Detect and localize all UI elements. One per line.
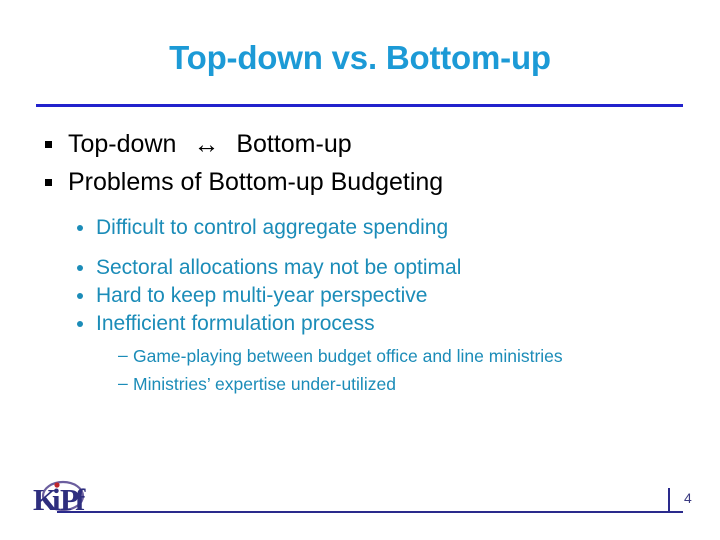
list-level3: – Game-playing between budget office and…: [0, 345, 720, 395]
list-item-level3: – Ministries’ expertise under-utilized: [0, 373, 720, 395]
slide: Top-down vs. Bottom-up Top-down ↔ Bottom…: [0, 0, 720, 540]
list-item-level3: – Game-playing between budget office and…: [0, 345, 720, 367]
square-bullet-icon: [45, 179, 52, 186]
square-bullet-icon: [45, 141, 52, 148]
list-item-level2: Sectoral allocations may not be optimal: [0, 254, 720, 282]
list-item-level1: Problems of Bottom-up Budgeting: [0, 166, 720, 198]
round-bullet-icon: [77, 265, 83, 271]
footer-divider: [57, 511, 683, 513]
list-item-label: Top-down: [68, 130, 176, 158]
page-title: Top-down vs. Bottom-up: [36, 38, 684, 78]
double-arrow-icon: ↔: [183, 131, 229, 157]
slide-body: Top-down ↔ Bottom-up Problems of Bottom-…: [0, 128, 720, 395]
round-bullet-icon: [77, 321, 83, 327]
list-item-level1: Top-down ↔ Bottom-up: [0, 128, 720, 160]
list-item-level2: Difficult to control aggregate spending: [0, 214, 720, 242]
list-item-label: Inefficient formulation process: [96, 312, 375, 335]
footer-tick-mark: [668, 488, 670, 512]
dash-bullet-icon: –: [118, 372, 128, 394]
list-item-level2: Inefficient formulation process: [0, 310, 720, 338]
dash-bullet-icon: –: [118, 344, 128, 366]
round-bullet-icon: [77, 225, 83, 231]
list-item-label: Game-playing between budget office and l…: [133, 346, 563, 366]
round-bullet-icon: [77, 293, 83, 299]
page-number: 4: [684, 490, 708, 506]
list-item-label: Problems of Bottom-up Budgeting: [68, 168, 443, 196]
title-divider: [36, 104, 683, 107]
list-item-label: Hard to keep multi-year perspective: [96, 284, 427, 307]
list-item-label-secondary: Bottom-up: [236, 130, 351, 158]
list-item-label: Ministries’ expertise under-utilized: [133, 374, 396, 394]
list-level2: Difficult to control aggregate spending …: [0, 214, 720, 338]
list-item-level2: Hard to keep multi-year perspective: [0, 282, 720, 310]
title-block: Top-down vs. Bottom-up: [36, 38, 684, 78]
list-item-label: Sectoral allocations may not be optimal: [96, 256, 461, 279]
list-item-label: Difficult to control aggregate spending: [96, 216, 448, 239]
